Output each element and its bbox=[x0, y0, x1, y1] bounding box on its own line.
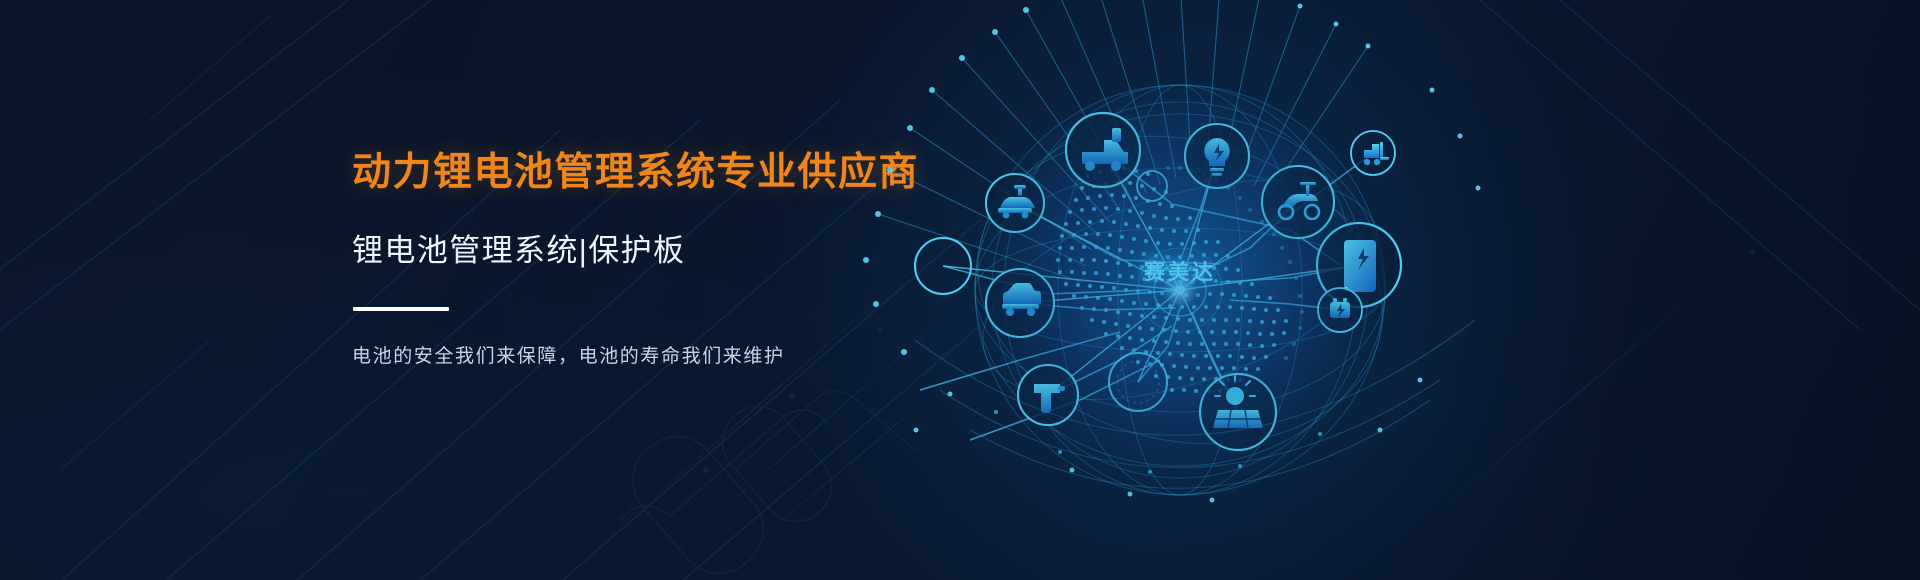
ring-node-icon bbox=[1109, 353, 1167, 411]
hero-banner: 动力锂电池管理系统专业供应商 锂电池管理系统|保护板 电池的安全我们来保障，电池… bbox=[0, 0, 1920, 580]
truck-icon bbox=[1066, 113, 1140, 187]
forklift-icon bbox=[1351, 131, 1395, 175]
small-ring-icon bbox=[1137, 171, 1167, 201]
brandmark-text: 赛美达 bbox=[1070, 256, 1290, 286]
hero-copy: 动力锂电池管理系统专业供应商 锂电池管理系统|保护板 电池的安全我们来保障，电池… bbox=[352, 150, 1072, 368]
lightbulb-icon bbox=[1185, 124, 1249, 188]
scooter-icon bbox=[1262, 166, 1334, 238]
ups-battery-icon bbox=[1318, 288, 1362, 332]
solar-panel-icon bbox=[1200, 374, 1276, 450]
page-title: 动力锂电池管理系统专业供应商 bbox=[352, 150, 1072, 196]
power-tool-icon bbox=[1018, 365, 1078, 425]
hero-subtitle: 锂电池管理系统|保护板 bbox=[352, 232, 1072, 269]
battery-pack-icon bbox=[1317, 223, 1401, 307]
divider bbox=[353, 307, 449, 311]
hero-tagline: 电池的安全我们来保障，电池的寿命我们来维护 bbox=[352, 341, 1072, 368]
